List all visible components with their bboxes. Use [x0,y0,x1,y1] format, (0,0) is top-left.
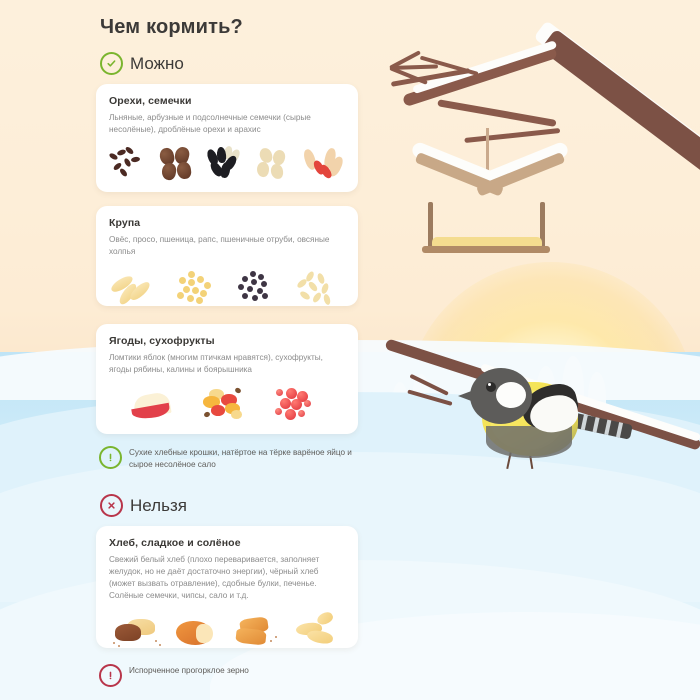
food-dried-fruits [201,386,253,424]
cross-circle-icon [100,494,123,517]
food-apple-slice [130,386,182,424]
food-row [96,258,358,319]
card-bread-sweet-salty: Хлеб, сладкое и солёное Свежий белый хле… [96,526,358,648]
food-row [96,376,358,435]
page-title: Чем кормить? [100,16,243,39]
card-text: Льняные, арбузные и подсолнечные семечки… [96,107,358,136]
bird-feeder [398,128,578,258]
exclamation-circle-icon [99,664,122,687]
food-bread-slices [113,612,163,650]
food-rapeseed [234,270,280,308]
card-title: Ягоды, сухофрукты [96,324,358,347]
card-text: Овёс, просо, пшеница, рапс, пшеничные от… [96,229,358,258]
food-flax-seeds [107,144,153,182]
food-rowan-berries [272,386,324,424]
bird-eye [486,382,496,392]
food-row [96,602,358,661]
exclamation-circle-icon [99,446,122,469]
note-text: Сухие хлебные крошки, натёртое на тёрке … [129,446,361,471]
section-header-allowed: Можно [100,52,184,75]
card-grains: Крупа Овёс, просо, пшеница, рапс, пшенич… [96,206,358,306]
food-chips [291,612,341,650]
card-text: Ломтики яблок (многим птичкам нравятся),… [96,347,358,376]
note-forbidden: Испорченное прогорклое зерно [99,664,361,687]
card-berries-dried-fruits: Ягоды, сухофрукты Ломтики яблок (многим … [96,324,358,434]
section-header-forbidden: Нельзя [100,494,187,517]
content-column: Чем кормить? Можно Орехи, семечки Льняны… [0,0,372,700]
food-oat-grains [113,270,159,308]
check-circle-icon [100,52,123,75]
food-bread-loaf [172,612,222,650]
card-title: Орехи, семечки [96,84,358,107]
note-allowed: Сухие хлебные крошки, натёртое на тёрке … [99,446,361,471]
card-text: Свежий белый хлеб (плохо переваривается,… [96,549,358,602]
card-title: Хлеб, сладкое и солёное [96,526,358,549]
card-title: Крупа [96,206,358,229]
section-label-allowed: Можно [130,54,184,74]
food-millet [174,270,220,308]
great-tit-bird [456,360,636,470]
feeder-floor [422,246,550,253]
note-text: Испорченное прогорклое зерно [129,664,249,677]
section-label-forbidden: Нельзя [130,496,187,516]
food-crushed-nuts [156,144,202,182]
food-peanuts [301,144,347,182]
bird-cheek-patch [496,382,526,408]
food-wheat-grains [295,270,341,308]
card-nuts-seeds: Орехи, семечки Льняные, арбузные и подсо… [96,84,358,192]
food-watermelon-seeds [252,144,298,182]
infographic-poster: Чем кормить? Можно Орехи, семечки Льняны… [0,0,700,700]
food-row [96,136,358,193]
bird-beak [458,390,474,402]
food-cookies [232,612,282,650]
food-sunflower-seeds [204,144,250,182]
